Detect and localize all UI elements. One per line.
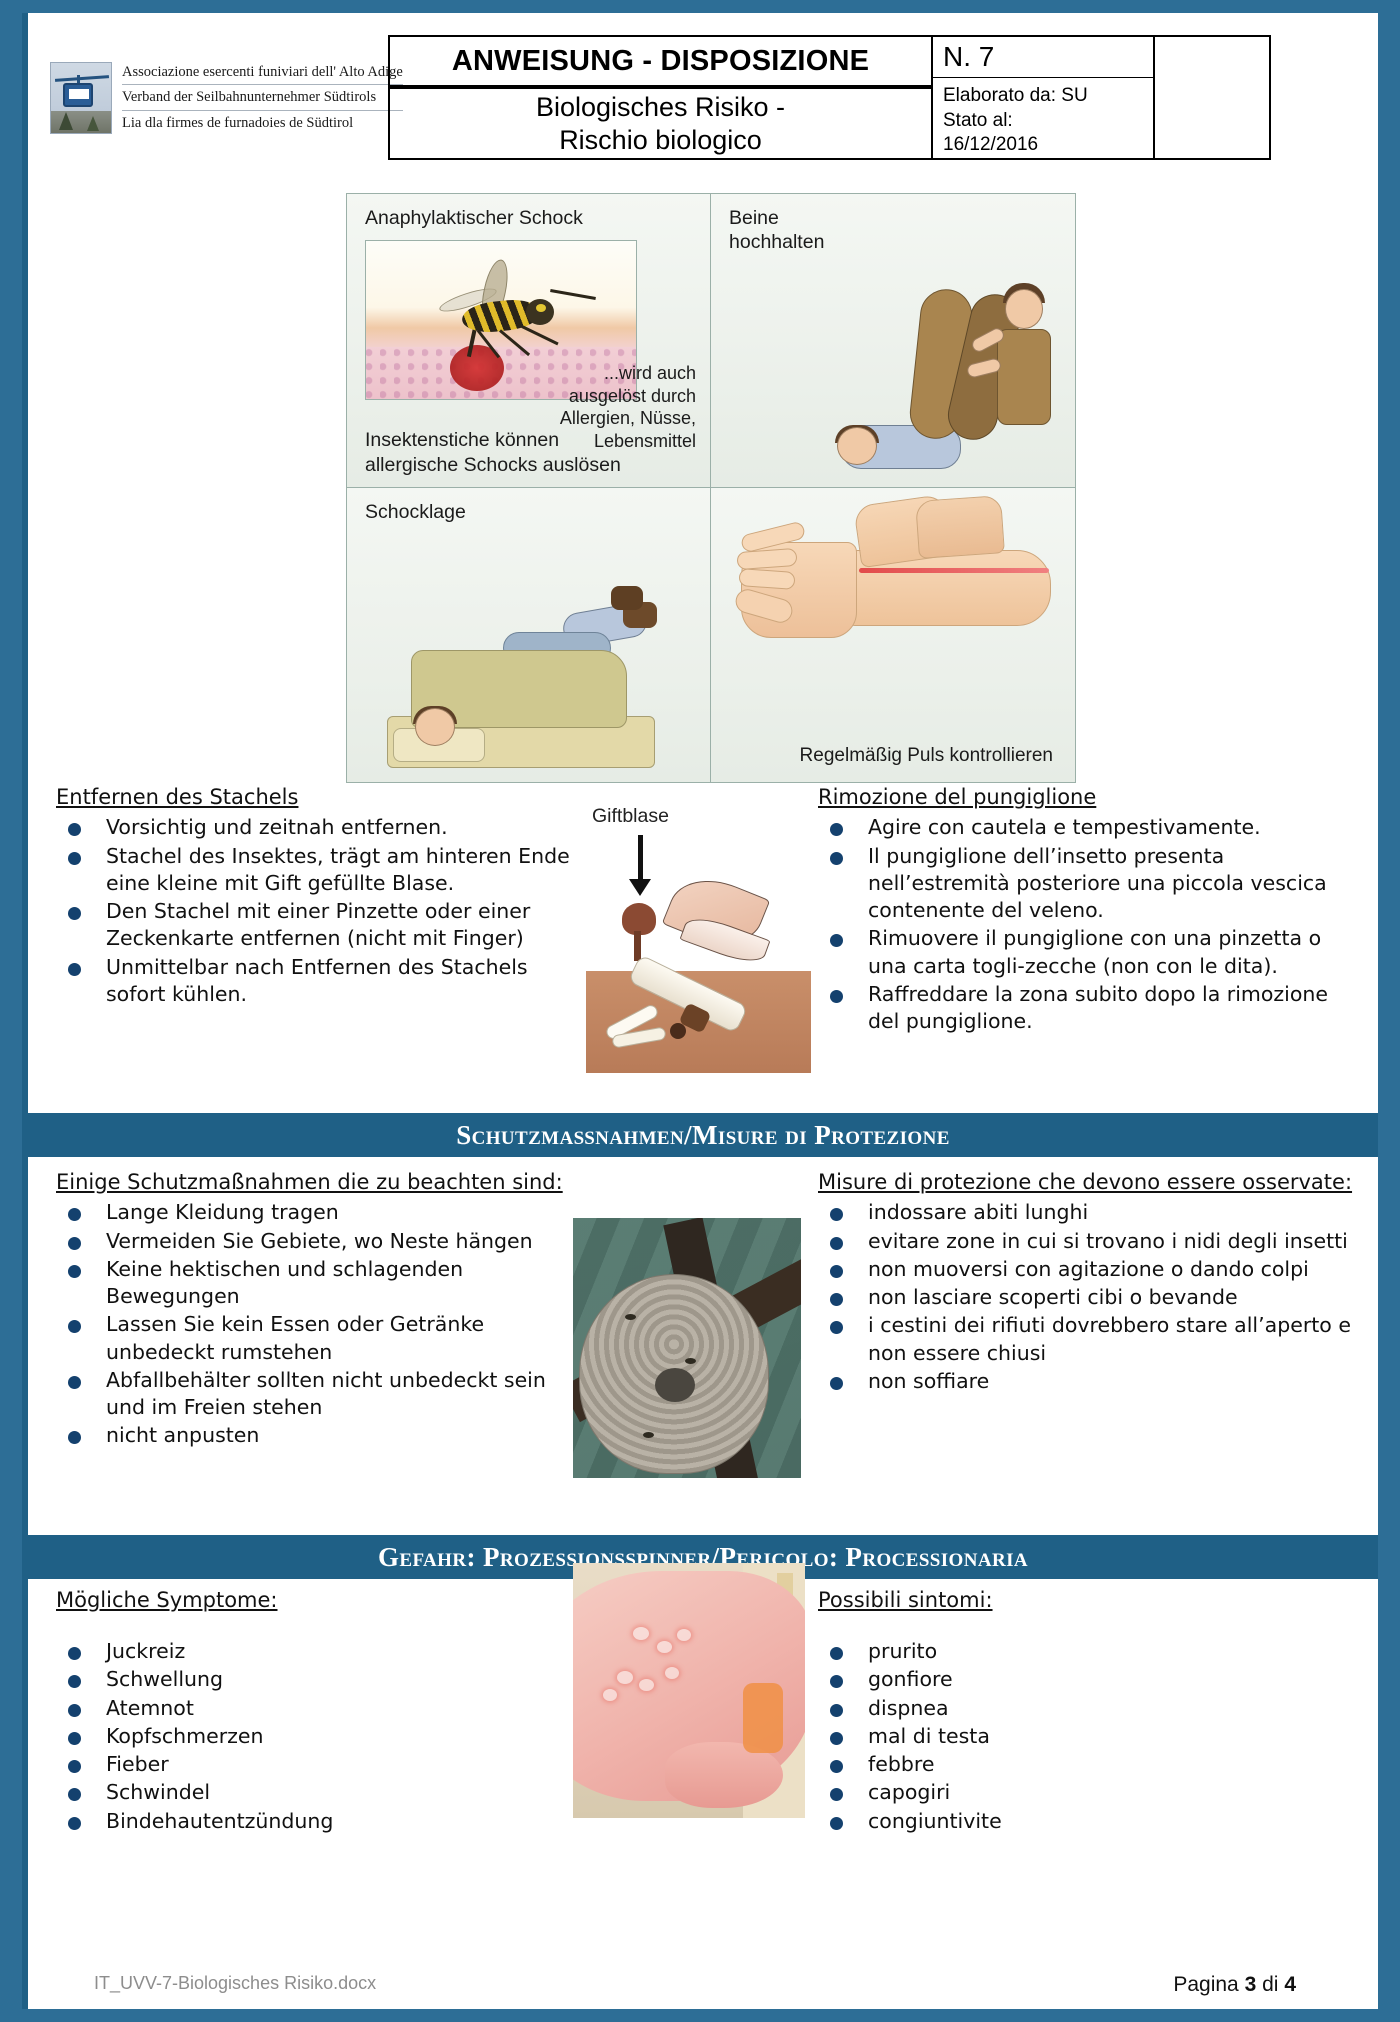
skin-rash-photo bbox=[573, 1563, 805, 1818]
protection-italian-column: Misure di protezione che devono essere o… bbox=[818, 1168, 1363, 1396]
header-meta-cell: N. 7 Elaborato da: SU Stato al: 16/12/20… bbox=[933, 35, 1155, 160]
document-title: Biologisches Risiko - Rischio biologico bbox=[390, 89, 931, 158]
list-item: Vermeiden Sie Gebiete, wo Neste hängen bbox=[56, 1228, 566, 1255]
venom-sac-label: Giftblase bbox=[592, 805, 669, 828]
list-item: Den Stachel mit einer Pinzette oder eine… bbox=[56, 898, 576, 953]
footer-pagination: Pagina 3 di 4 bbox=[1173, 1973, 1296, 1997]
protection-german-column: Einige Schutzmaßnahmen die zu beachten s… bbox=[56, 1168, 566, 1451]
illustration-cell1-caption: Insektenstiche können allergische Schock… bbox=[365, 428, 621, 477]
list-item: dispnea bbox=[818, 1695, 1218, 1722]
section-header-protection: Schutzmaßnahmen/Misure di Protezione bbox=[28, 1113, 1378, 1157]
list-item: Unmittelbar nach Entfernen des Stachels … bbox=[56, 954, 576, 1009]
list-item: gonfiore bbox=[818, 1666, 1218, 1693]
legs-elevated-figure bbox=[819, 253, 1069, 483]
symptoms-italian-column: Possibili sintomi: prurito gonfiore disp… bbox=[818, 1588, 1218, 1836]
pulse-check-figure bbox=[731, 498, 1061, 688]
list-item: i cestini dei rifiuti dovrebbero stare a… bbox=[818, 1312, 1363, 1367]
org-name-it: Associazione esercenti funiviari dell' A… bbox=[122, 60, 403, 85]
list-item: non soffiare bbox=[818, 1368, 1363, 1395]
list-item: congiuntivite bbox=[818, 1808, 1218, 1835]
list-item: Vorsichtig und zeitnah entfernen. bbox=[56, 814, 576, 841]
symptoms-german-column: Mögliche Symptome: Juckreiz Schwellung A… bbox=[56, 1588, 446, 1836]
document-page: Associazione esercenti funiviari dell' A… bbox=[22, 13, 1378, 2009]
list-item: Bindehautentzündung bbox=[56, 1808, 446, 1835]
sting-removal-it-heading: Rimozione del pungiglione bbox=[818, 783, 1358, 811]
document-status-label: Stato al: bbox=[943, 109, 1153, 134]
protection-de-list: Lange Kleidung tragen Vermeiden Sie Gebi… bbox=[56, 1199, 566, 1449]
stinger-diagram bbox=[586, 877, 811, 969]
sting-removal-de-list: Vorsichtig und zeitnah entfernen. Stache… bbox=[56, 814, 576, 1008]
list-item: non lasciare scoperti cibi o bevande bbox=[818, 1284, 1363, 1311]
document-title-it: Rischio biologico bbox=[559, 124, 762, 157]
list-item: Abfallbehälter sollten nicht unbedeckt s… bbox=[56, 1367, 566, 1422]
protection-it-list: indossare abiti lunghi evitare zone in c… bbox=[818, 1199, 1363, 1395]
page-number: 3 bbox=[1245, 1973, 1257, 1996]
sting-removal-de-heading: Entfernen des Stachels bbox=[56, 783, 576, 811]
document-header: Associazione esercenti funiviari dell' A… bbox=[38, 35, 1358, 160]
sting-removal-german-column: Entfernen des Stachels Vorsichtig und ze… bbox=[56, 783, 576, 1009]
sting-removal-it-list: Agire con cautela e tempestivamente. Il … bbox=[818, 814, 1358, 1035]
document-number: N. 7 bbox=[933, 37, 1153, 78]
wasp-nest-photo bbox=[573, 1218, 801, 1478]
org-name-lld: Lia dla firmes de furnadoies de Südtirol bbox=[122, 111, 403, 135]
list-item: Fieber bbox=[56, 1751, 446, 1778]
illustration-cell-anaphylactic-shock: Anaphylaktischer Schock ...wird auch aus… bbox=[347, 194, 711, 488]
list-item: Atemnot bbox=[56, 1695, 446, 1722]
list-item: Kopfschmerzen bbox=[56, 1723, 446, 1750]
list-item: Juckreiz bbox=[56, 1638, 446, 1665]
sting-removal-section: Entfernen des Stachels Vorsichtig und ze… bbox=[28, 783, 1378, 1103]
list-item: Stachel des Insektes, trägt am hinteren … bbox=[56, 843, 576, 898]
illustration-cell4-caption: Regelmäßig Puls kontrollieren bbox=[800, 744, 1053, 768]
document-status-date: 16/12/2016 bbox=[943, 133, 1153, 158]
list-item: non muoversi con agitazione o dando colp… bbox=[818, 1256, 1363, 1283]
document-type-label: ANWEISUNG - DISPOSIZIONE bbox=[390, 37, 931, 89]
document-author: Elaborato da: SU bbox=[943, 84, 1153, 109]
header-title-cell: ANWEISUNG - DISPOSIZIONE Biologisches Ri… bbox=[388, 35, 933, 160]
list-item: indossare abiti lunghi bbox=[818, 1199, 1363, 1226]
list-item: Il pungiglione dell’insetto presenta nel… bbox=[818, 843, 1358, 925]
illustration-cell2-title: Beine hochhalten bbox=[729, 206, 824, 255]
page-prefix: Pagina bbox=[1173, 1973, 1238, 1996]
list-item: Agire con cautela e tempestivamente. bbox=[818, 814, 1358, 841]
illustration-cell3-title: Schocklage bbox=[365, 500, 466, 524]
illustration-cell1-title: Anaphylaktischer Schock bbox=[365, 206, 583, 230]
footer-filename: IT_UVV-7-Biologisches Risiko.docx bbox=[94, 1973, 376, 1994]
header-empty-cell bbox=[1155, 35, 1271, 160]
protection-de-heading: Einige Schutzmaßnahmen die zu beachten s… bbox=[56, 1168, 566, 1196]
organization-logo-block: Associazione esercenti funiviari dell' A… bbox=[38, 35, 388, 160]
list-item: Schwellung bbox=[56, 1666, 446, 1693]
first-aid-illustration-panel: Anaphylaktischer Schock ...wird auch aus… bbox=[346, 193, 1076, 783]
symptoms-de-list: Juckreiz Schwellung Atemnot Kopfschmerze… bbox=[56, 1638, 446, 1835]
venom-sac-image: Giftblase bbox=[586, 803, 811, 1073]
sting-removal-italian-column: Rimozione del pungiglione Agire con caut… bbox=[818, 783, 1358, 1036]
document-title-de: Biologisches Risiko - bbox=[536, 91, 785, 124]
document-meta: Elaborato da: SU Stato al: 16/12/2016 bbox=[933, 78, 1153, 158]
illustration-cell-shock-position: Schocklage bbox=[347, 488, 711, 782]
list-item: prurito bbox=[818, 1638, 1218, 1665]
list-item: febbre bbox=[818, 1751, 1218, 1778]
shock-position-figure bbox=[387, 578, 687, 768]
list-item: capogiri bbox=[818, 1779, 1218, 1806]
organization-name-lines: Associazione esercenti funiviari dell' A… bbox=[122, 60, 403, 135]
list-item: Raffreddare la zona subito dopo la rimoz… bbox=[818, 981, 1358, 1036]
page-total: 4 bbox=[1284, 1973, 1296, 1996]
symptoms-de-heading: Mögliche Symptome: bbox=[56, 1588, 446, 1612]
list-item: nicht anpusten bbox=[56, 1422, 566, 1449]
symptoms-it-heading: Possibili sintomi: bbox=[818, 1588, 1218, 1612]
list-item: Lassen Sie kein Essen oder Getränke unbe… bbox=[56, 1311, 566, 1366]
tweezers-photo bbox=[586, 971, 811, 1073]
list-item: evitare zone in cui si trovano i nidi de… bbox=[818, 1228, 1363, 1255]
symptoms-section: Mögliche Symptome: Juckreiz Schwellung A… bbox=[28, 1588, 1378, 1888]
list-item: Keine hektischen und schlagenden Bewegun… bbox=[56, 1256, 566, 1311]
illustration-cell-legs-elevated: Beine hochhalten bbox=[711, 194, 1075, 488]
list-item: Schwindel bbox=[56, 1779, 446, 1806]
protection-measures-section: Einige Schutzmaßnahmen die zu beachten s… bbox=[28, 1168, 1378, 1528]
symptoms-it-list: prurito gonfiore dispnea mal di testa fe… bbox=[818, 1638, 1218, 1835]
illustration-cell-pulse-check: Regelmäßig Puls kontrollieren bbox=[711, 488, 1075, 782]
list-item: Rimuovere il pungiglione con una pinzett… bbox=[818, 925, 1358, 980]
page-mid: di bbox=[1262, 1973, 1278, 1996]
down-arrow-icon bbox=[638, 835, 643, 881]
list-item: Lange Kleidung tragen bbox=[56, 1199, 566, 1226]
cable-car-logo-icon bbox=[50, 62, 112, 134]
protection-it-heading: Misure di protezione che devono essere o… bbox=[818, 1168, 1363, 1196]
org-name-de: Verband der Seilbahnunternehmer Südtirol… bbox=[122, 85, 403, 110]
list-item: mal di testa bbox=[818, 1723, 1218, 1750]
